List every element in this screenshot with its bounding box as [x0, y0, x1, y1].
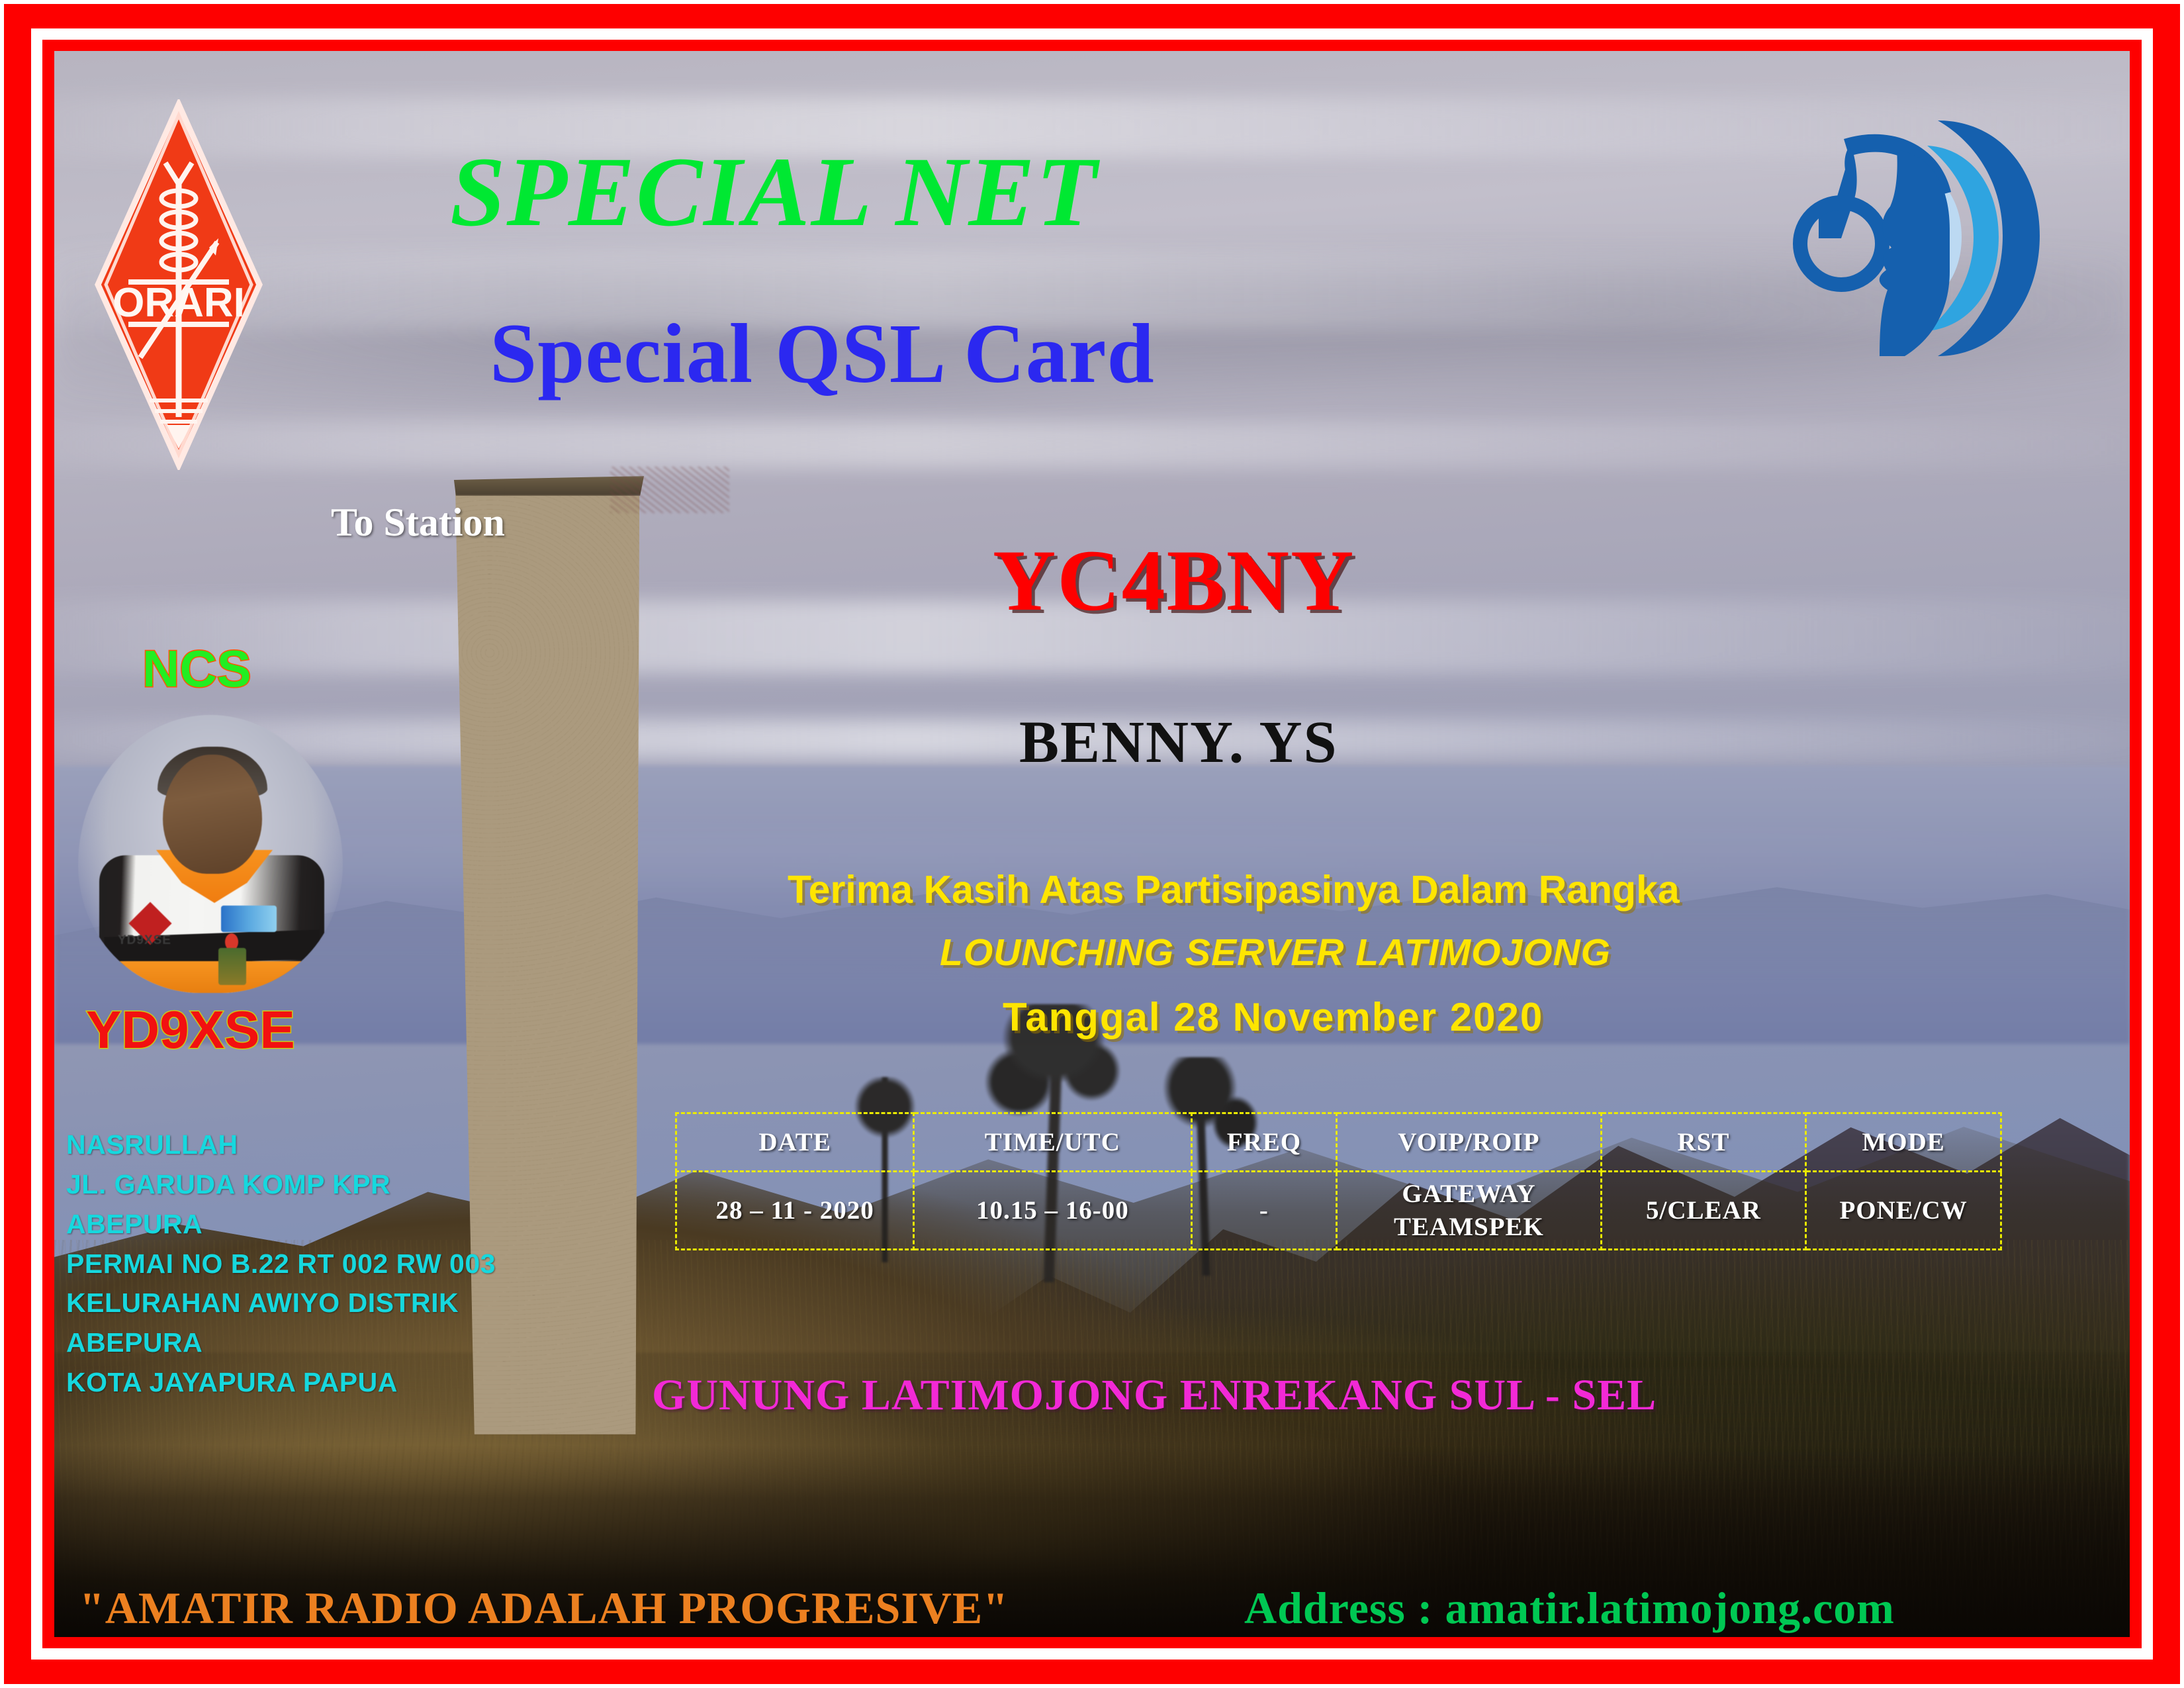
- qso-details-table: DATE TIME/UTC FREQ VOIP/ROIP RST MODE 28…: [675, 1112, 2002, 1250]
- to-station-label: To Station: [331, 500, 505, 545]
- column-header-date: DATE: [676, 1113, 914, 1172]
- column-header-mode: MODE: [1806, 1113, 2001, 1172]
- column-header-rst: RST: [1601, 1113, 1806, 1172]
- page-title-special-net: SPECIAL NET: [450, 142, 1707, 242]
- ncs-label: NCS: [142, 639, 251, 699]
- address-line: NASRULLAH: [66, 1125, 649, 1165]
- avatar-id-badge: [218, 948, 246, 985]
- avatar-shirt-callsign: YD9XSE: [118, 933, 171, 948]
- page-subtitle-qsl-card: Special QSL Card: [490, 311, 1747, 396]
- cell-time: 10.15 – 16-00: [914, 1172, 1191, 1250]
- qsl-card: ORARI SPECIAL NET Special QSL Card To St…: [0, 0, 2184, 1688]
- address-line: JL. GARUDA KOMP KPR: [66, 1165, 649, 1205]
- cell-rst: 5/CLEAR: [1601, 1172, 1806, 1250]
- cell-mode: PONE/CW: [1806, 1172, 2001, 1250]
- avatar-chest-patch: [221, 906, 277, 932]
- event-date: Tanggal 28 November 2020: [1003, 994, 1543, 1040]
- cell-freq: -: [1191, 1172, 1337, 1250]
- column-header-freq: FREQ: [1191, 1113, 1337, 1172]
- avatar-face: [163, 755, 262, 874]
- address-line: KELURAHAN AWIYO DISTRIK: [66, 1284, 649, 1323]
- address-line: PERMAI NO B.22 RT 002 RW 003: [66, 1244, 649, 1284]
- address-line: ABEPURA: [66, 1205, 649, 1244]
- column-header-time: TIME/UTC: [914, 1113, 1191, 1172]
- cell-voip-line1: GATEWAY: [1338, 1178, 1600, 1210]
- thanks-line-1: Terima Kasih Atas Partisipasinya Dalam R…: [788, 867, 1680, 912]
- ncs-operator-avatar: YD9XSE: [78, 715, 343, 993]
- footer-website: Address : amatir.latimojong.com: [1244, 1582, 1895, 1634]
- location-caption: GUNUNG LATIMOJONG ENREKANG SUL - SEL: [652, 1370, 1657, 1421]
- address-line: ABEPURA: [66, 1323, 649, 1363]
- column-header-voip: VOIP/ROIP: [1337, 1113, 1601, 1172]
- orari-logo: ORARI: [93, 99, 265, 470]
- address-line: KOTA JAYAPURA PAPUA: [66, 1363, 649, 1403]
- table-header-row: DATE TIME/UTC FREQ VOIP/ROIP RST MODE: [676, 1113, 2001, 1172]
- cell-date: 28 – 11 - 2020: [676, 1172, 914, 1250]
- cell-voip-line2: TEAMSPEK: [1338, 1211, 1600, 1243]
- operator-name: BENNY. YS: [1019, 708, 1338, 776]
- event-name: LOUNCHING SERVER LATIMOJONG: [940, 931, 1611, 974]
- avatar-uniform-hem: [98, 961, 327, 993]
- ncs-callsign: YD9XSE: [86, 1000, 295, 1060]
- table-row: 28 – 11 - 2020 10.15 – 16-00 - GATEWAY T…: [676, 1172, 2001, 1250]
- station-callsign: YC4BNY: [993, 530, 1355, 631]
- orari-logo-text: ORARI: [113, 280, 245, 326]
- recipient-address: NASRULLAH JL. GARUDA KOMP KPR ABEPURA PE…: [66, 1125, 649, 1403]
- cell-voip: GATEWAY TEAMSPEK: [1337, 1172, 1601, 1250]
- radio-operator-headphone-icon: [1780, 106, 2045, 371]
- footer-motto: "AMATIR RADIO ADALAH PROGRESIVE": [79, 1582, 1009, 1634]
